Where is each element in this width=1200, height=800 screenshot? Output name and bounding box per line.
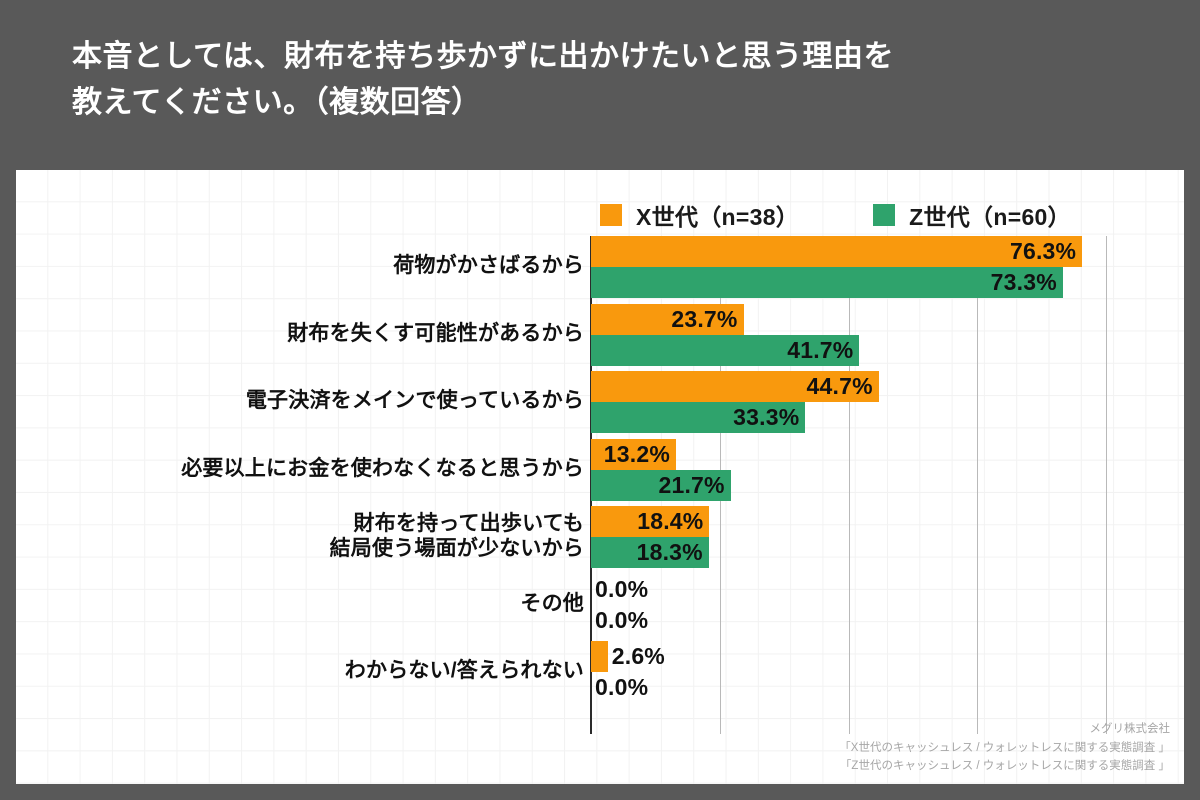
bar-value-label: 73.3%: [991, 267, 1057, 298]
bar-track: 44.7%: [591, 371, 1106, 402]
category-label: 必要以上にお金を使わなくなると思うから: [64, 457, 584, 482]
category-label: 財布を持って出歩いても 結局使う場面が少ないから: [64, 512, 584, 562]
chart-panel: X世代（n=38） Z世代（n=60） 荷物がかさばるから76.3%73.3%財…: [16, 170, 1184, 784]
bar-track: 23.7%: [591, 304, 1106, 335]
bar-track: 18.4%: [591, 506, 1106, 537]
bar-value-label: 18.3%: [637, 537, 703, 568]
category-label: 荷物がかさばるから: [64, 254, 584, 279]
bar-value-label: 21.7%: [658, 470, 724, 501]
bar-track: 73.3%: [591, 267, 1106, 298]
category-label: 電子決済をメインで使っているから: [64, 389, 584, 414]
source-survey-z: 「Z世代のキャッシュレス / ウォレットレスに関する実態調査 」: [839, 757, 1170, 776]
category-label: その他: [64, 592, 584, 617]
category-group: 荷物がかさばるから76.3%73.3%: [16, 236, 1184, 298]
bar-track: 0.0%: [591, 574, 1106, 605]
bar-value-label: 13.2%: [604, 439, 670, 470]
category-label: 財布を失くす可能性があるから: [64, 322, 584, 347]
category-label: わからない/答えられない: [64, 659, 584, 684]
source-company: メグリ株式会社: [839, 720, 1170, 739]
category-group: 電子決済をメインで使っているから44.7%33.3%: [16, 371, 1184, 433]
bar-track: 18.3%: [591, 537, 1106, 568]
source-survey-x: 「X世代のキャッシュレス / ウォレットレスに関する実態調査 」: [839, 739, 1170, 758]
bar-value-label: 41.7%: [787, 335, 853, 366]
bar-track: 21.7%: [591, 470, 1106, 501]
plot-area: 荷物がかさばるから76.3%73.3%財布を失くす可能性があるから23.7%41…: [16, 170, 1184, 784]
page-title: 本音としては、財布を持ち歩かずに出かけたいと思う理由を 教えてください。（複数回…: [72, 34, 1132, 125]
category-group: わからない/答えられない2.6%0.0%: [16, 641, 1184, 703]
bar-track: 41.7%: [591, 335, 1106, 366]
category-group: 必要以上にお金を使わなくなると思うから13.2%21.7%: [16, 439, 1184, 501]
bar-track: 13.2%: [591, 439, 1106, 470]
bar-value-label: 18.4%: [637, 506, 703, 537]
bar-track: 0.0%: [591, 672, 1106, 703]
bar-track: 33.3%: [591, 402, 1106, 433]
bar-value-label: 0.0%: [595, 574, 648, 605]
bar-value-label: 76.3%: [1010, 236, 1076, 267]
bar-x-sedai[interactable]: [591, 236, 1082, 267]
bar-value-label: 0.0%: [595, 672, 648, 703]
slide-root: 本音としては、財布を持ち歩かずに出かけたいと思う理由を 教えてください。（複数回…: [0, 0, 1200, 800]
bar-x-sedai[interactable]: [591, 641, 608, 672]
category-group: その他0.0%0.0%: [16, 574, 1184, 636]
bar-track: 2.6%: [591, 641, 1106, 672]
bar-value-label: 33.3%: [733, 402, 799, 433]
bar-value-label: 44.7%: [807, 371, 873, 402]
category-group: 財布を持って出歩いても 結局使う場面が少ないから18.4%18.3%: [16, 506, 1184, 568]
bar-value-label: 0.0%: [595, 605, 648, 636]
bar-track: 0.0%: [591, 605, 1106, 636]
bar-value-label: 2.6%: [612, 641, 665, 672]
source-attribution: メグリ株式会社 「X世代のキャッシュレス / ウォレットレスに関する実態調査 」…: [839, 720, 1170, 776]
bar-value-label: 23.7%: [671, 304, 737, 335]
bar-track: 76.3%: [591, 236, 1106, 267]
category-group: 財布を失くす可能性があるから23.7%41.7%: [16, 304, 1184, 366]
